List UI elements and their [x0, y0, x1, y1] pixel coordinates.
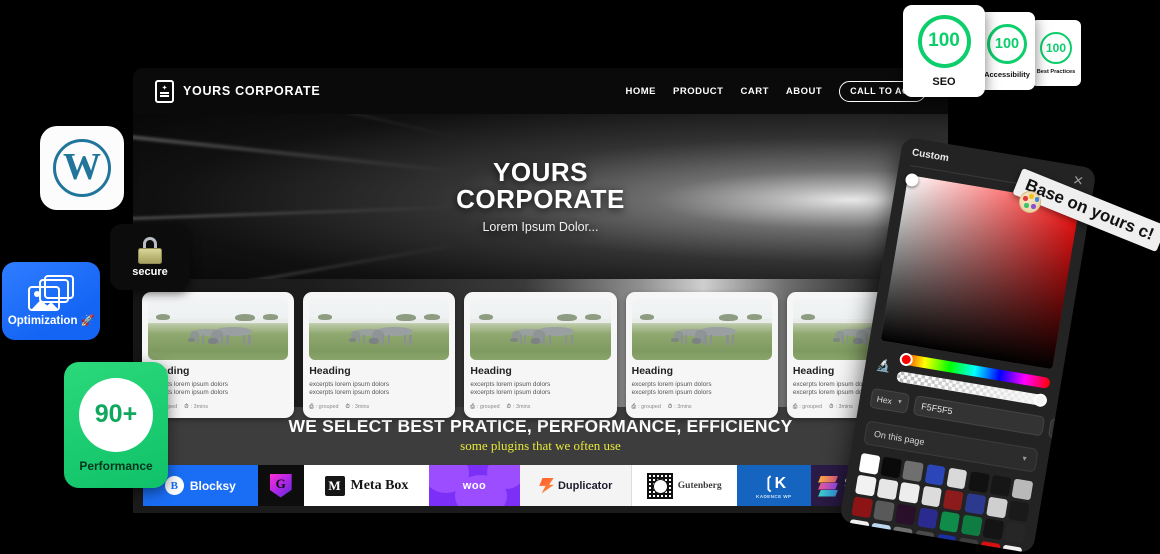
card-meta: ⎙: grouped ⏱: 3mins [309, 404, 449, 411]
chevron-down-icon: ▼ [896, 399, 903, 406]
card-meta: ⎙: grouped ⏱: 3mins [632, 404, 772, 411]
color-swatch[interactable] [895, 504, 917, 526]
color-swatch[interactable] [1012, 479, 1034, 501]
product-card[interactable]: Heading excerpts lorem ipsum dolors exce… [303, 292, 455, 418]
wordpress-mark: W [63, 148, 101, 186]
brand-name: YOURS CORPORATE [183, 84, 320, 98]
card-thumbnail [148, 298, 288, 360]
promo-subtitle: some plugins that we often use [133, 438, 948, 454]
hue-slider-knob[interactable] [899, 352, 914, 367]
opacity-value: 100 [1054, 423, 1070, 435]
product-card[interactable]: Heading excerpts lorem ipsum dolors exce… [464, 292, 616, 418]
color-picker-handle[interactable] [904, 173, 919, 188]
clock-icon: ⏱ [184, 404, 188, 411]
color-swatch[interactable] [899, 482, 921, 504]
plugin-woo-label: woo [463, 480, 487, 492]
wordpress-logo-badge: W [40, 126, 124, 210]
color-swatch[interactable] [957, 537, 979, 554]
id-card-icon: ✦ [155, 80, 174, 103]
color-swatch[interactable] [870, 522, 892, 544]
color-swatch-grid [844, 453, 1033, 554]
card-excerpt-line-1: excerpts lorem ipsum dolors [148, 381, 288, 390]
percent-label: % [1071, 427, 1079, 437]
tag-icon: ⎙ [309, 404, 313, 411]
padlock-icon [137, 237, 163, 264]
hero-subtitle: Lorem Ipsum Dolor... [482, 220, 598, 234]
performance-label: Performance [79, 459, 152, 473]
color-swatch[interactable] [881, 457, 903, 479]
card-excerpt-line-1: excerpts lorem ipsum dolors [309, 381, 449, 390]
color-swatch[interactable] [964, 493, 986, 515]
color-swatch[interactable] [961, 515, 983, 537]
plugin-gutenberg[interactable]: Gutenberg [631, 465, 737, 506]
color-swatch[interactable] [935, 533, 957, 553]
color-swatch[interactable] [979, 541, 1001, 554]
card-excerpt: excerpts lorem ipsum dolors excerpts lor… [632, 381, 772, 398]
card-excerpt-line-2: excerpts lorem ipsum dolors [632, 389, 772, 398]
color-swatch[interactable] [873, 500, 895, 522]
on-this-page-label: On this page [873, 429, 925, 447]
score-ring-seo: 100 [918, 15, 971, 68]
card-excerpt: excerpts lorem ipsum dolors excerpts lor… [470, 381, 610, 398]
card-heading: Heading [148, 366, 288, 378]
color-swatch[interactable] [859, 453, 881, 475]
color-swatch[interactable] [946, 468, 968, 490]
gutenberg-icon [647, 473, 673, 499]
plugin-kadence-wp[interactable]: ❲K KADENCE WP [737, 465, 811, 506]
plugin-meta-box[interactable]: M Meta Box [304, 465, 430, 506]
color-swatch[interactable] [939, 511, 961, 533]
nav-product[interactable]: PRODUCT [673, 86, 723, 97]
eyedropper-icon[interactable]: 🔬 [876, 357, 893, 373]
score-label-seo: SEO [932, 76, 955, 88]
color-swatch[interactable] [877, 478, 899, 500]
card-meta: ⎙: grouped ⏱: 3mins [470, 404, 610, 411]
hero-title-line-2: CORPORATE [456, 186, 625, 213]
color-swatch[interactable] [917, 508, 939, 530]
site-nav: HOME PRODUCT CART ABOUT CALL TO ACT [626, 81, 927, 102]
color-picker-title: Custom [911, 147, 950, 164]
nav-about[interactable]: ABOUT [786, 86, 822, 97]
score-label-accessibility: Accessibility [984, 70, 1030, 79]
blocksy-icon: B [165, 476, 184, 495]
clock-icon: ⏱ [829, 404, 833, 411]
color-swatch[interactable] [913, 530, 935, 552]
score-card-accessibility: 100 Accessibility [979, 12, 1035, 90]
nav-home[interactable]: HOME [626, 86, 657, 97]
generatepress-icon: G [270, 474, 292, 498]
color-swatch[interactable] [891, 526, 913, 548]
color-swatch[interactable] [986, 497, 1008, 519]
plugin-logo-strip: B Blocksy G M Meta Box woo Duplicator Gu… [143, 465, 938, 506]
clock-icon: ⏱ [507, 404, 511, 411]
plugin-meta-box-label: Meta Box [351, 478, 409, 494]
close-icon[interactable]: ✕ [1072, 175, 1084, 187]
alpha-slider-knob[interactable] [1033, 393, 1048, 408]
card-thumbnail [632, 298, 772, 360]
color-swatch[interactable] [855, 475, 877, 497]
card-meta-readtime: ⏱: 3mins [507, 404, 531, 411]
plugin-duplicator-label: Duplicator [558, 480, 612, 492]
score-label-best-practices: Best Practices [1037, 69, 1076, 75]
score-ring-accessibility: 100 [987, 24, 1027, 64]
card-heading: Heading [470, 366, 610, 378]
score-card-best-practices: 100 Best Practices [1031, 20, 1081, 86]
card-meta-category: ⎙: grouped [309, 404, 338, 411]
card-excerpt-line-2: excerpts lorem ipsum dolors [309, 389, 449, 398]
optimization-label: Optimization [8, 315, 78, 327]
card-meta-category: ⎙: grouped [632, 404, 661, 411]
chevron-down-icon: ▼ [1021, 455, 1029, 463]
card-heading: Heading [309, 366, 449, 378]
color-swatch[interactable] [1005, 522, 1027, 544]
card-thumbnail [309, 298, 449, 360]
card-excerpt: excerpts lorem ipsum dolors excerpts lor… [309, 381, 449, 398]
color-swatch[interactable] [990, 475, 1012, 497]
plugin-gutenberg-label: Gutenberg [678, 481, 722, 491]
hero-text: YOURS CORPORATE Lorem Ipsum Dolor... [133, 114, 948, 279]
performance-value: 90+ [95, 400, 137, 429]
performance-badge: 90+ Performance [64, 362, 168, 488]
optimization-badge: Optimization 🚀 [2, 262, 100, 340]
hero-title-line-1: YOURS [456, 159, 625, 186]
hero-title: YOURS CORPORATE [456, 159, 625, 214]
tag-icon: ⎙ [632, 404, 636, 411]
performance-score-circle: 90+ [79, 378, 153, 452]
card-meta-readtime: ⏱: 3mins [668, 404, 692, 411]
card-excerpt-line-1: excerpts lorem ipsum dolors [470, 381, 610, 390]
duplicator-icon [538, 478, 554, 494]
tag-icon: ⎙ [793, 404, 797, 411]
card-thumbnail [470, 298, 610, 360]
color-swatch[interactable] [848, 519, 870, 541]
site-header: ✦ YOURS CORPORATE HOME PRODUCT CART ABOU… [133, 68, 948, 114]
card-excerpt-line-2: excerpts lorem ipsum dolors [148, 389, 288, 398]
opacity-field[interactable]: 100 % [1048, 418, 1085, 443]
color-swatch[interactable] [888, 548, 910, 554]
color-swatch[interactable] [983, 519, 1005, 541]
color-format-dropdown[interactable]: Hex ▼ [869, 388, 910, 414]
clock-icon: ⏱ [345, 404, 349, 411]
meta-box-icon: M [325, 476, 345, 496]
nav-cart[interactable]: CART [740, 86, 768, 97]
color-swatch[interactable] [968, 471, 990, 493]
card-meta-readtime: ⏱: 3mins [345, 404, 369, 411]
plugin-generatepress[interactable]: G [258, 465, 304, 506]
plugin-blocksy-label: Blocksy [190, 479, 236, 493]
plugin-woo[interactable]: woo [429, 465, 519, 506]
score-card-seo: 100 SEO [903, 5, 985, 97]
color-swatch[interactable] [851, 497, 873, 519]
card-excerpt-line-1: excerpts lorem ipsum dolors [632, 381, 772, 390]
stackable-icon [818, 476, 838, 496]
rocket-icon: 🚀 [80, 314, 94, 327]
card-meta: ⎙: grouped ⏱: 3mins [148, 404, 288, 411]
card-meta-category: ⎙: grouped [793, 404, 822, 411]
card-meta-readtime: ⏱: 3mins [184, 404, 208, 411]
brand[interactable]: ✦ YOURS CORPORATE [155, 80, 320, 103]
color-format-value: Hex [876, 394, 893, 406]
color-swatch[interactable] [902, 460, 924, 482]
card-meta-readtime: ⏱: 3mins [829, 404, 853, 411]
plugin-kadence-label: KADENCE WP [756, 494, 791, 499]
images-stack-icon [28, 275, 74, 311]
color-swatch[interactable] [943, 489, 965, 511]
product-card[interactable]: Heading excerpts lorem ipsum dolors exce… [626, 292, 778, 418]
wordpress-icon: W [53, 139, 111, 197]
plugin-duplicator[interactable]: Duplicator [520, 465, 631, 506]
secure-label: secure [132, 266, 167, 278]
card-meta-category: ⎙: grouped [470, 404, 499, 411]
color-swatch[interactable] [921, 486, 943, 508]
color-swatch[interactable] [924, 464, 946, 486]
palette-icon [1019, 191, 1041, 213]
promo-title: WE SELECT BEST PRATICE, PERFORMANCE, EFF… [133, 416, 948, 437]
product-cards-section: Heading excerpts lorem ipsum dolors exce… [133, 279, 948, 407]
website-preview-window: ✦ YOURS CORPORATE HOME PRODUCT CART ABOU… [133, 68, 948, 513]
card-heading: Heading [632, 366, 772, 378]
secure-badge: secure [110, 224, 190, 290]
color-swatch[interactable] [866, 544, 888, 553]
card-excerpt: excerpts lorem ipsum dolors excerpts lor… [148, 381, 288, 398]
card-excerpt-line-2: excerpts lorem ipsum dolors [470, 389, 610, 398]
product-cards-row: Heading excerpts lorem ipsum dolors exce… [142, 292, 939, 418]
color-swatch[interactable] [844, 540, 866, 553]
color-swatch[interactable] [910, 551, 932, 553]
color-swatch[interactable] [1001, 544, 1023, 553]
clock-icon: ⏱ [668, 404, 672, 411]
score-ring-best-practices: 100 [1040, 32, 1072, 64]
hero-section: YOURS CORPORATE Lorem Ipsum Dolor... [133, 114, 948, 279]
color-swatch[interactable] [1008, 500, 1030, 522]
tag-icon: ⎙ [470, 404, 474, 411]
kadence-icon: ❲K [762, 473, 785, 493]
